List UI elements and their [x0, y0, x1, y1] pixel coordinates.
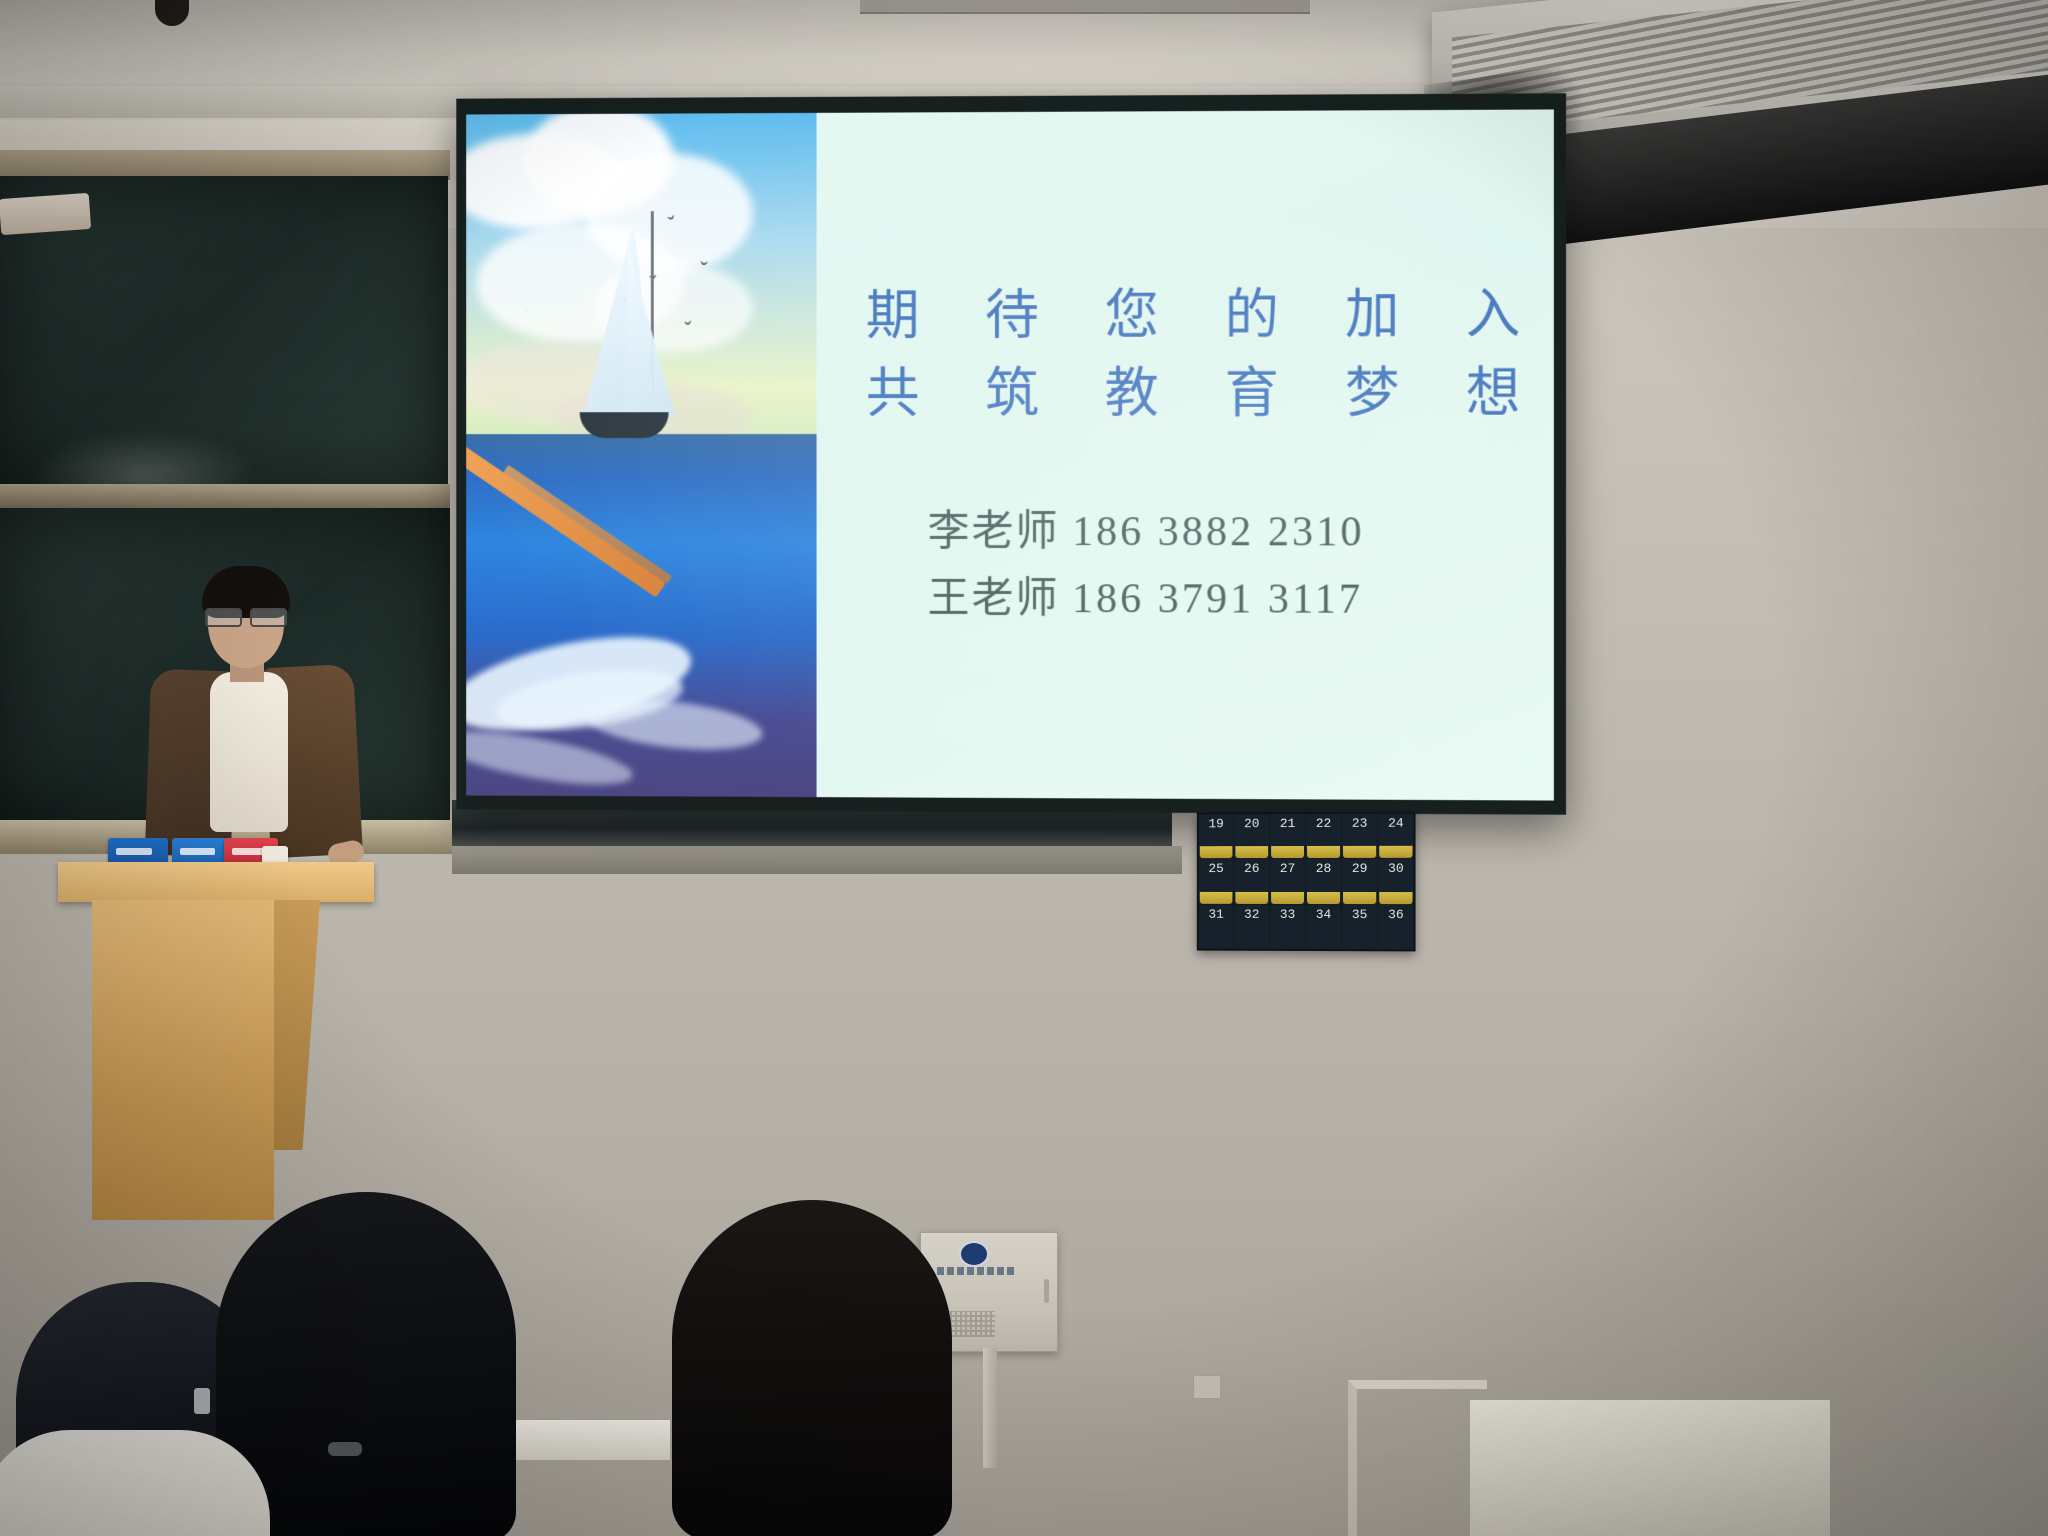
pocket-number-chart: 19 20 21 22 23 24 25 26 27 28 29 30 31 3…	[1197, 812, 1416, 952]
contact-phone-li: 186 3882 2310	[1072, 509, 1365, 555]
pocket-number: 24	[1388, 816, 1404, 831]
pocket-number: 36	[1388, 907, 1404, 922]
pocket-slot: 26	[1234, 859, 1269, 903]
slide-text-panel: 期 待 您 的 加 入 共 筑 教 育 梦 想 李老师 186 3882 231…	[816, 109, 1554, 800]
glasses-icon	[203, 608, 289, 624]
contact-line-li: 李老师 186 3882 2310	[862, 499, 1554, 567]
podium-body	[92, 900, 274, 1220]
pocket-slot: 36	[1378, 905, 1413, 950]
slide-headline-line-1: 期 待 您 的 加 入	[862, 275, 1554, 355]
pocket-number: 22	[1316, 816, 1332, 831]
pocket-number: 32	[1244, 907, 1259, 922]
pocket-slot: 30	[1378, 859, 1413, 904]
pocket-slot: 32	[1234, 905, 1269, 949]
wave	[583, 693, 765, 758]
audience-member-white-jacket	[0, 1430, 270, 1536]
projection-screen-frame: ˇ ˇ ˇ ˇ ˇ ˇ	[456, 93, 1566, 814]
sliding-board-ledge	[452, 846, 1182, 874]
pocket-number: 26	[1244, 861, 1259, 876]
blackboard-middle-rail	[0, 484, 450, 510]
podium-top	[58, 862, 374, 902]
pocket-slot: 34	[1306, 905, 1341, 949]
presenter-shirt	[210, 672, 288, 832]
pocket-slot: 27	[1270, 859, 1305, 903]
pocket-number: 30	[1388, 861, 1404, 876]
pocket-slot: 19	[1199, 814, 1234, 858]
projection-screen: ˇ ˇ ˇ ˇ ˇ ˇ	[466, 109, 1554, 800]
pocket-number: 29	[1352, 861, 1368, 876]
pocket-row: 31 32 33 34 35 36	[1199, 905, 1414, 950]
audience-member-long-hair	[672, 1200, 952, 1536]
pocket-slot: 29	[1342, 859, 1377, 904]
desk-frame	[1348, 1380, 1487, 1536]
contact-phone-wang: 186 3791 3117	[1072, 576, 1363, 623]
equipment-label	[937, 1267, 1017, 1275]
pocket-number: 33	[1280, 907, 1296, 922]
pocket-slot: 24	[1378, 814, 1413, 859]
wall-outlet-icon	[1193, 1375, 1221, 1399]
pocket-number: 31	[1208, 907, 1223, 922]
slide-headline-line-2: 共 筑 教 育 梦 想	[862, 354, 1554, 433]
pocket-slot: 22	[1306, 814, 1341, 858]
pocket-slot: 31	[1199, 905, 1234, 949]
rolled-paper	[0, 193, 91, 235]
presenter	[90, 566, 380, 876]
ceiling-panel	[860, 0, 1310, 14]
contact-name-li: 李老师	[928, 509, 1060, 555]
pocket-number: 23	[1352, 816, 1368, 831]
pocket-number: 25	[1208, 861, 1223, 876]
pocket-number: 19	[1208, 816, 1223, 831]
presentation-slide: ˇ ˇ ˇ ˇ ˇ ˇ	[466, 109, 1554, 800]
pocket-slot: 35	[1342, 905, 1377, 950]
pocket-slot: 20	[1234, 814, 1269, 858]
pocket-number: 35	[1352, 907, 1368, 922]
pocket-row: 25 26 27 28 29 30	[1199, 859, 1414, 904]
pocket-number: 34	[1316, 907, 1332, 922]
boat-hull	[580, 412, 669, 438]
pocket-slot: 33	[1270, 905, 1305, 949]
pocket-number: 21	[1280, 816, 1296, 831]
wall-conduit	[983, 1348, 997, 1468]
equipment-handle[interactable]	[1044, 1279, 1049, 1303]
slide-contacts: 李老师 186 3882 2310 王老师 186 3791 3117	[862, 499, 1554, 635]
pocket-number: 28	[1316, 861, 1332, 876]
classroom-scene: ˇ ˇ ˇ ˇ ˇ ˇ	[0, 0, 2048, 1536]
pocket-slot: 21	[1270, 814, 1305, 858]
slide-photo-sailboat: ˇ ˇ ˇ ˇ ˇ ˇ	[466, 113, 816, 797]
contact-name-wang: 王老师	[928, 576, 1060, 622]
equipment-logo-icon	[959, 1241, 989, 1267]
pocket-slot: 25	[1199, 859, 1234, 903]
pocket-row: 19 20 21 22 23 24	[1199, 814, 1414, 859]
desk-surface	[1470, 1400, 1830, 1536]
pocket-slot: 28	[1306, 859, 1341, 903]
contact-line-wang: 王老师 186 3791 3117	[862, 566, 1554, 635]
pocket-number: 20	[1244, 816, 1259, 831]
pocket-slot: 23	[1342, 814, 1377, 859]
pocket-number: 27	[1280, 861, 1296, 876]
